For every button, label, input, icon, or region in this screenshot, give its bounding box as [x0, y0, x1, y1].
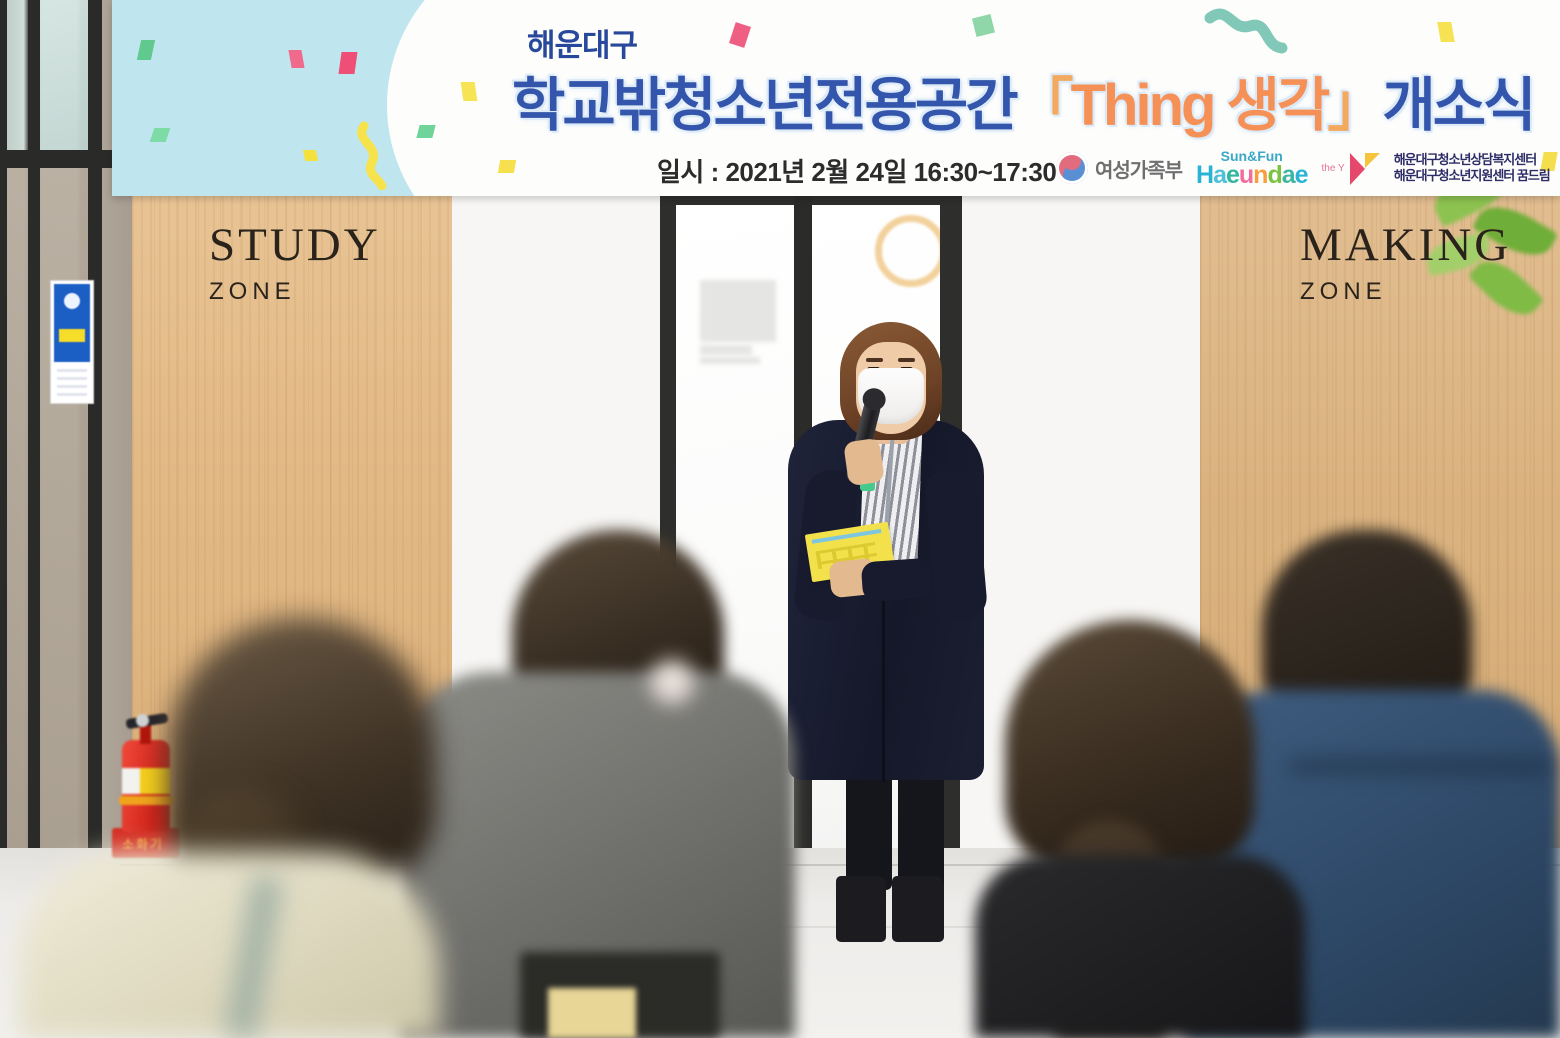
centre-line-1: 해운대구청소년상담복지센터: [1394, 152, 1550, 168]
speaker-hand-mic: [843, 438, 885, 487]
speaker-forearm-right: [861, 558, 934, 603]
confetti-yellow-4: [1437, 22, 1455, 42]
banner-date: 일시 : 2021년 2월 24일 16:30~17:30: [657, 152, 1056, 189]
banner-logo-row: 여성가족부 Sun&Fun Haeundae the Y 해운대구청소년상담복지…: [1056, 145, 1550, 191]
zone-label-study: STUDY ZONE: [209, 222, 381, 306]
zone-making-sub: ZONE: [1300, 278, 1511, 306]
speaker-boot-right: [892, 876, 944, 942]
logo-the-y: the Y: [1322, 153, 1380, 183]
banner-bracket-close: 」: [1327, 73, 1382, 138]
confetti-green-4: [972, 14, 995, 37]
taegeuk-icon: [1056, 152, 1088, 184]
zone-study-title: STUDY: [209, 222, 381, 269]
zone-making-title: MAKING: [1300, 222, 1511, 269]
room-background: 해운대구 학교밖청소년전용공간「Thing 생각」개소식 일시 : 2021년 …: [0, 0, 1560, 1038]
zone-label-making: MAKING ZONE: [1300, 222, 1511, 306]
audience-ponytail-right-top: [975, 855, 1305, 1038]
confetti-pink-2: [338, 52, 357, 74]
banner-title: 학교밖청소년전용공간「Thing 생각」개소식: [512, 58, 1533, 142]
audience-denim-seam: [1290, 760, 1550, 772]
logo-mogef-label: 여성가족부: [1095, 154, 1182, 183]
banner-title-brand: Thing: [1071, 73, 1214, 138]
event-banner: 해운대구 학교밖청소년전용공간「Thing 생각」개소식 일시 : 2021년 …: [112, 0, 1560, 196]
banner-title-main: 학교밖청소년전용공간: [512, 73, 1016, 138]
covid-guidance-poster: [50, 280, 94, 404]
banner-blue-panel: [112, 0, 552, 196]
confetti-pink-3: [729, 22, 751, 48]
speaker-boot-left: [836, 876, 886, 942]
logo-haeundae: Sun&Fun Haeundae: [1196, 149, 1308, 188]
zone-study-sub: ZONE: [209, 278, 381, 306]
logo-the-y-label: the Y: [1322, 163, 1345, 174]
audience-grey-mask-edge: [650, 660, 694, 704]
banner-bracket-open: 「: [1016, 73, 1071, 138]
confetti-yellow-3: [498, 160, 516, 173]
chair-name-card: [548, 988, 636, 1038]
ymca-chevron-icon: [1350, 153, 1380, 183]
banner-centre-names: 해운대구청소년상담복지센터 해운대구청소년지원센터 꿈드림: [1394, 152, 1550, 185]
squiggle-teal-icon: [1202, 2, 1297, 60]
logo-haeundae-wordmark: Haeundae: [1196, 163, 1308, 188]
banner-title-brand-kr: 생각: [1227, 73, 1328, 138]
squiggle-yellow-icon: [350, 120, 396, 190]
confetti-yellow-1: [303, 150, 318, 161]
centre-line-2: 해운대구청소년지원센터 꿈드림: [1394, 168, 1550, 184]
banner-title-tail: 개소식: [1382, 73, 1533, 138]
logo-mogef: 여성가족부: [1056, 152, 1182, 184]
confetti-yellow-2: [461, 82, 478, 101]
confetti-green-3: [416, 125, 435, 138]
event-photo: 해운대구 학교밖청소년전용공간「Thing 생각」개소식 일시 : 2021년 …: [0, 0, 1560, 1038]
